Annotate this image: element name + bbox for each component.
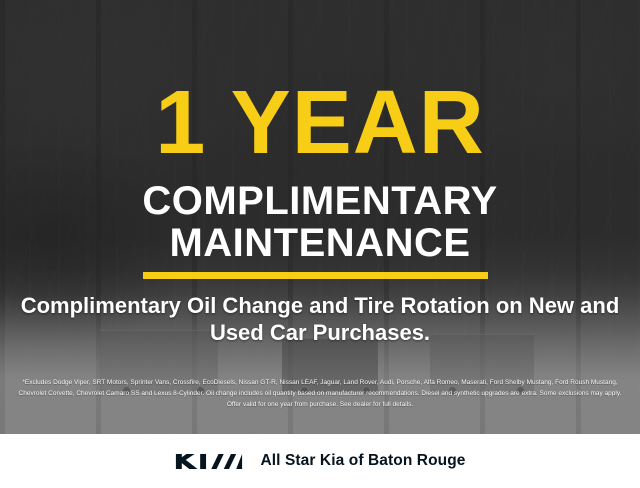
hero-banner: 1 YEAR COMPLIMENTARY MAINTENANCE Complim… [0, 0, 640, 434]
headline-complimentary: COMPLIMENTARY [0, 180, 640, 222]
disclaimer-fine-print: *Excludes Dodge Viper, SRT Motors, Sprin… [14, 377, 626, 410]
kia-logo-icon [174, 452, 244, 471]
headline-maintenance: MAINTENANCE [0, 222, 640, 264]
dealer-footer: All Star Kia of Baton Rouge [0, 434, 640, 488]
hero-content: 1 YEAR COMPLIMENTARY MAINTENANCE Complim… [0, 0, 640, 434]
maintenance-promo-ad: 1 YEAR COMPLIMENTARY MAINTENANCE Complim… [0, 0, 640, 488]
yellow-divider-rule [143, 272, 488, 279]
subheadline-text: Complimentary Oil Change and Tire Rotati… [0, 292, 640, 346]
headline-year: 1 YEAR [0, 78, 640, 168]
dealer-name-text: All Star Kia of Baton Rouge [260, 452, 465, 470]
